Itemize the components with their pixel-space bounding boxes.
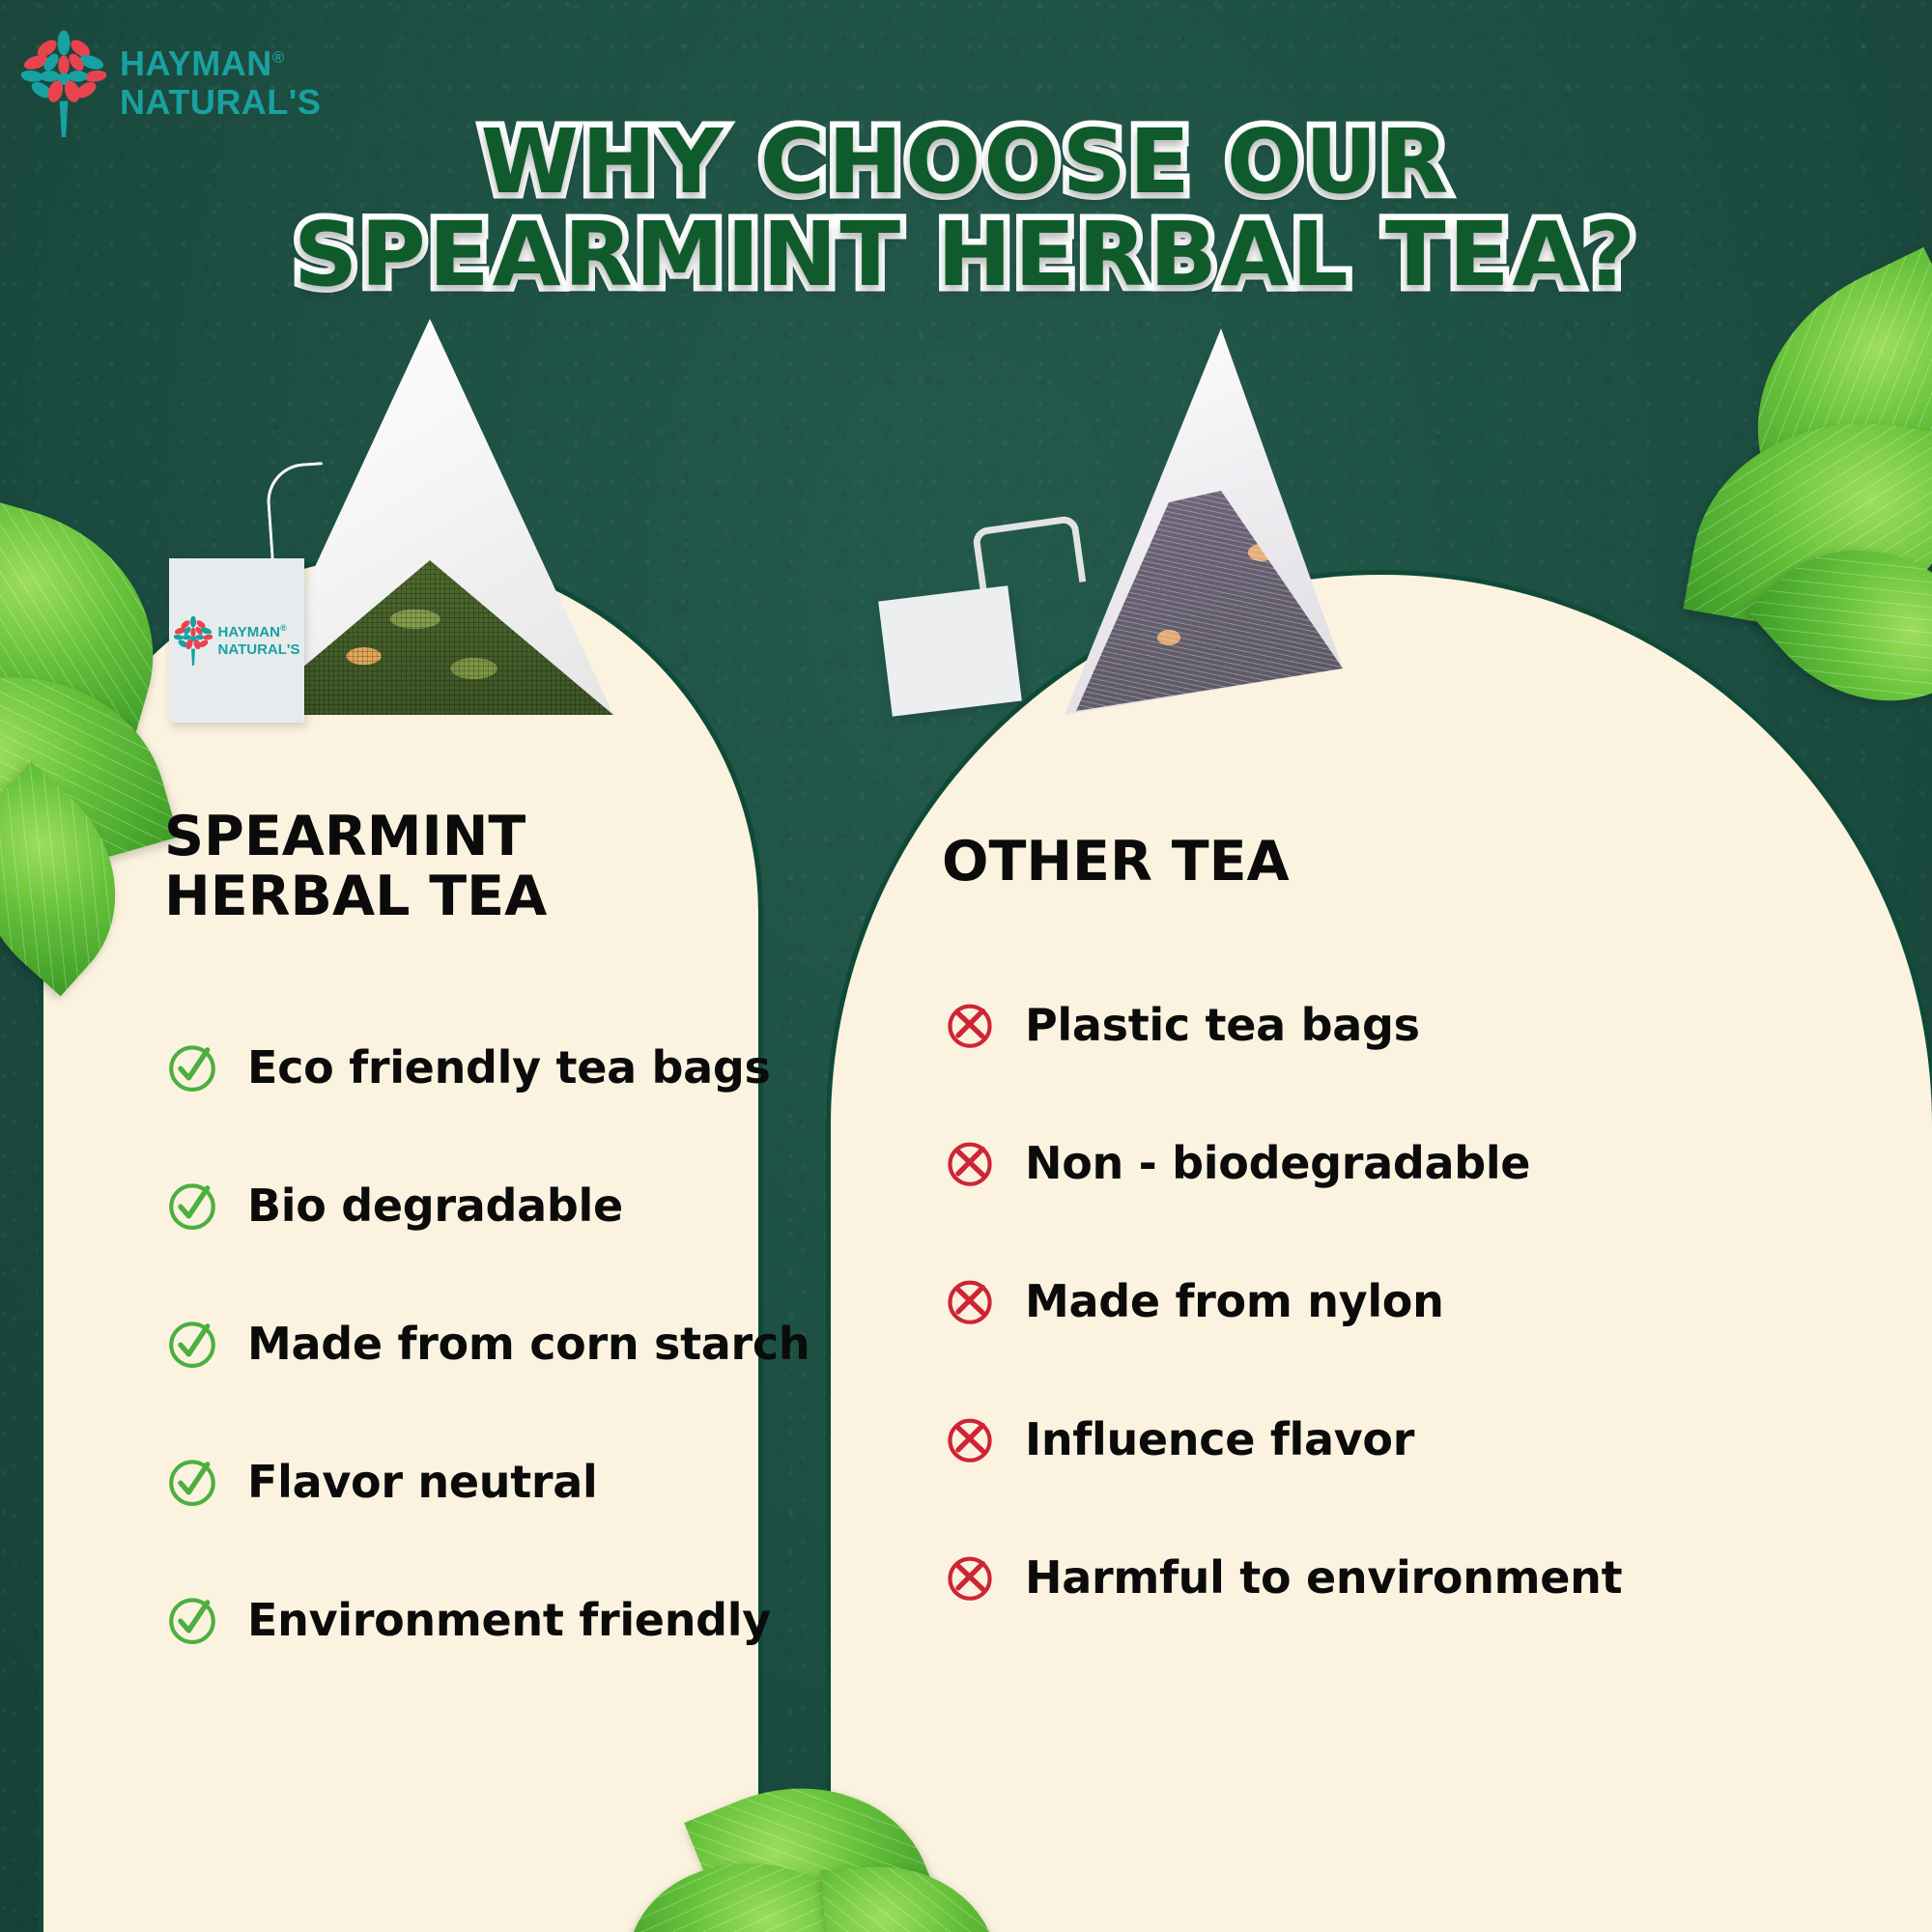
product-tag-hayman: HAYMAN® NATURAL'S: [169, 558, 304, 723]
registered-mark: ®: [272, 48, 285, 67]
check-circle-icon: [164, 1592, 220, 1648]
brand-name-line2: NATURAL'S: [120, 83, 321, 122]
list-item: Non - biodegradable: [942, 1094, 1850, 1233]
column-other-tea: OTHER TEA Plastic tea bags Non - biodegr…: [942, 833, 1850, 1647]
check-circle-icon: [164, 1316, 220, 1372]
list-item-label: Influence flavor: [1025, 1413, 1414, 1465]
list-item-label: Made from nylon: [1025, 1275, 1444, 1327]
check-circle-icon: [164, 1039, 220, 1095]
column-spearmint-herbal-tea: SPEARMINT HERBAL TEA Eco friendly tea ba…: [164, 808, 744, 1689]
brand-name: HAYMAN® NATURAL'S: [120, 44, 321, 123]
list-item-label: Non - biodegradable: [1025, 1137, 1530, 1189]
list-item-label: Eco friendly tea bags: [247, 1041, 771, 1094]
list-item: Environment friendly: [164, 1550, 744, 1689]
cross-circle-icon: [942, 1411, 998, 1467]
benefit-list-spearmint: Eco friendly tea bags Bio degradable Mad…: [164, 998, 744, 1689]
list-item-label: Flavor neutral: [247, 1456, 598, 1508]
title-line-2: SPEARMINT HERBAL TEA?: [0, 213, 1932, 298]
list-item: Eco friendly tea bags: [164, 998, 744, 1136]
list-item: Plastic tea bags: [942, 956, 1850, 1094]
brand-name-line1: HAYMAN: [120, 43, 272, 83]
list-item: Bio degradable: [164, 1136, 744, 1274]
check-circle-icon: [164, 1454, 220, 1510]
brand-logo: HAYMAN® NATURAL'S: [21, 29, 321, 137]
column-heading-other-tea: OTHER TEA: [942, 833, 1850, 893]
product-tag-brand: HAYMAN® NATURAL'S: [218, 623, 300, 659]
list-item: Made from corn starch: [164, 1274, 744, 1412]
product-tag-blank: [878, 585, 1022, 717]
list-item: Influence flavor: [942, 1371, 1850, 1509]
list-item-label: Made from corn starch: [247, 1318, 810, 1370]
column-heading-spearmint: SPEARMINT HERBAL TEA: [164, 808, 744, 926]
cross-circle-icon: [942, 997, 998, 1053]
list-item-label: Bio degradable: [247, 1179, 623, 1232]
list-item-label: Environment friendly: [247, 1594, 771, 1646]
tree-logo-icon: [21, 29, 106, 137]
product-image-other-tea-bag: [1053, 328, 1343, 715]
list-item-label: Harmful to environment: [1025, 1551, 1622, 1604]
cross-circle-icon: [942, 1273, 998, 1329]
tree-logo-icon: [174, 615, 213, 666]
list-item-label: Plastic tea bags: [1025, 999, 1420, 1051]
list-item: Harmful to environment: [942, 1509, 1850, 1647]
list-item: Made from nylon: [942, 1233, 1850, 1371]
list-item: Flavor neutral: [164, 1412, 744, 1550]
check-circle-icon: [164, 1178, 220, 1234]
page-title: WHY CHOOSE OUR SPEARMINT HERBAL TEA?: [0, 120, 1932, 298]
drawback-list-other-tea: Plastic tea bags Non - biodegradable Mad…: [942, 956, 1850, 1647]
cross-circle-icon: [942, 1549, 998, 1605]
cross-circle-icon: [942, 1135, 998, 1191]
